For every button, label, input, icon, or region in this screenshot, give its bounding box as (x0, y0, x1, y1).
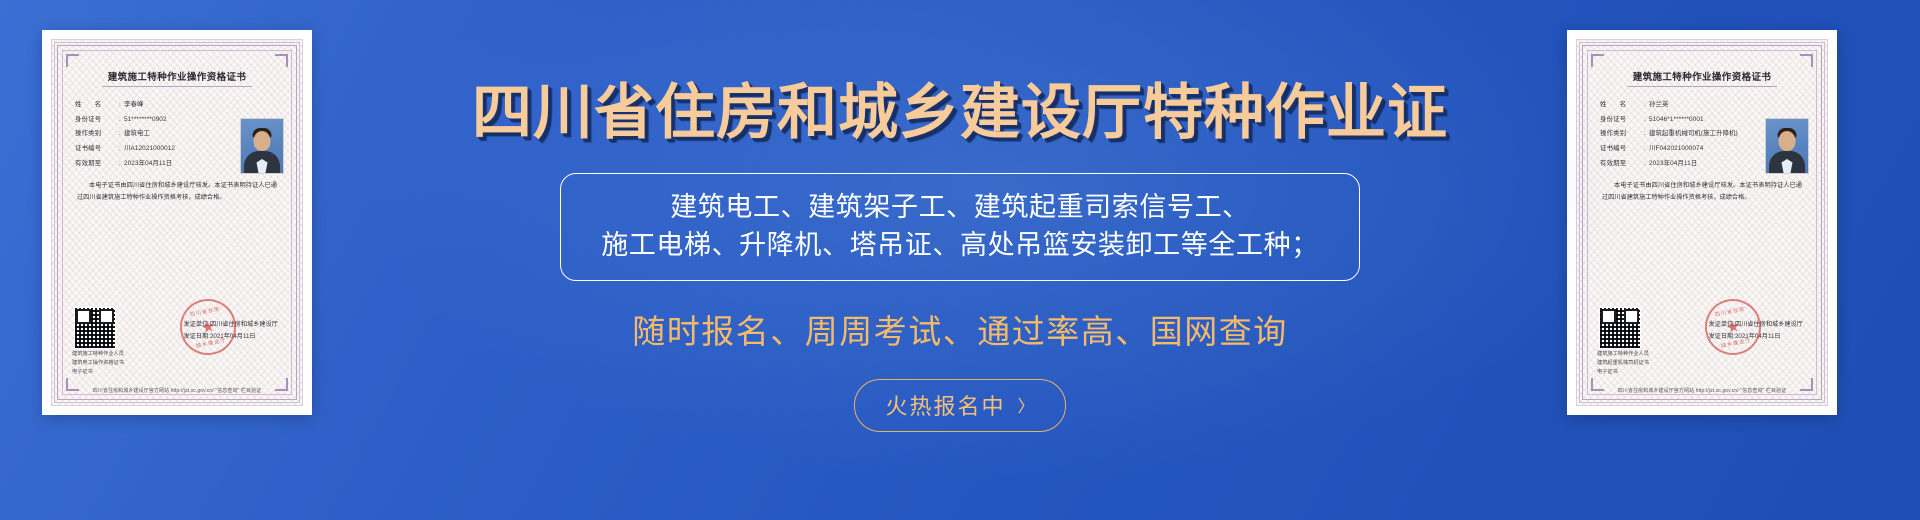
certificate-field: 有效期至 : 2023年04月11日 (1600, 160, 1760, 169)
chevron-right-icon: 〉 (1018, 392, 1035, 417)
field-label: 身份证号 (75, 116, 119, 125)
certificate-body-paragraph: 本电子证书由四川省住房和城乡建设厅核发。本证书表明持证人已通过四川省建筑施工特种… (1602, 180, 1802, 204)
seal-top-text: 四川省住房 (189, 305, 221, 318)
title-underline (102, 86, 252, 87)
legend-line: 建筑起重机械司机证书 (1597, 359, 1649, 368)
field-label: 身份证号 (1600, 116, 1644, 125)
qr-code-icon (74, 307, 116, 349)
field-label: 证书编号 (75, 145, 119, 154)
certificate-inner-right: 建筑施工特种作业操作资格证书 姓 名 : 孙兰英 身份证号 : 51046*1*… (1576, 39, 1828, 406)
field-value: 建筑电工 (124, 130, 150, 139)
field-value: 川F042021000074 (1649, 145, 1703, 154)
field-value: 2023年04月11日 (1649, 160, 1697, 169)
promo-banner: 建筑施工特种作业操作资格证书 姓 名 : 李春峰 身份证号 : 51******… (0, 0, 1920, 520)
trades-line: 建筑电工、建筑架子工、建筑起重司索信号工、 (601, 188, 1319, 226)
benefits-line: 随时报名、周周考试、通过率高、国网查询 (632, 305, 1288, 353)
legend-line: 建筑施工特种作业人员 (72, 350, 124, 359)
corner-ornament-icon (1591, 54, 1604, 67)
certificate-field: 证书编号 : 川A12021000012 (75, 145, 235, 154)
certificate-field: 身份证号 : 51046*1******0001 (1600, 116, 1760, 125)
corner-ornament-icon (1800, 54, 1813, 67)
legend-line: 建筑电工操作资格证书 (72, 359, 124, 368)
certificate-field-list: 姓 名 : 李春峰 身份证号 : 51********0902 操作类别 : 建… (75, 101, 235, 168)
legend-line: 电子证书 (72, 368, 124, 377)
field-value: 2023年04月11日 (124, 160, 172, 169)
photo-head-shape (254, 131, 271, 151)
official-seal-icon: 四川省住房 城乡建设厅 (1700, 294, 1766, 360)
qr-code-icon (1599, 307, 1641, 349)
field-value: 孙兰英 (1649, 101, 1668, 110)
field-label: 有效期至 (75, 160, 119, 169)
certificate-field: 证书编号 : 川F042021000074 (1600, 145, 1760, 154)
certificate-photo (240, 118, 284, 174)
seal-bottom-text: 城乡建设厅 (195, 337, 227, 350)
certificate-legend: 建筑施工特种作业人员 建筑起重机械司机证书 电子证书 (1597, 350, 1649, 377)
certificate-card-right: 建筑施工特种作业操作资格证书 姓 名 : 孙兰英 身份证号 : 51046*1*… (1567, 30, 1837, 415)
certificate-card-left: 建筑施工特种作业操作资格证书 姓 名 : 李春峰 身份证号 : 51******… (42, 30, 312, 415)
legend-line: 建筑施工特种作业人员 (1597, 350, 1649, 359)
certificate-field: 操作类别 : 建筑电工 (75, 130, 235, 139)
certificate-inner-left: 建筑施工特种作业操作资格证书 姓 名 : 李春峰 身份证号 : 51******… (51, 39, 303, 406)
title-underline (1627, 86, 1777, 87)
certificate-field-list: 姓 名 : 孙兰英 身份证号 : 51046*1******0001 操作类别 … (1600, 101, 1760, 168)
official-seal-icon: 四川省住房 城乡建设厅 (175, 294, 241, 360)
certificate-footer-note: 四川省住房和城乡建设厅官方网站 http://jzt.sc.gov.cn/ "信… (1577, 387, 1827, 394)
field-label: 有效期至 (1600, 160, 1644, 169)
signup-cta-button[interactable]: 火热报名中 〉 (854, 379, 1065, 432)
certificate-footer-note: 四川省住房和城乡建设厅官方网站 http://jzt.sc.gov.cn/ "信… (52, 387, 302, 394)
certificate-body-text: 本电子证书由四川省住房和城乡建设厅核发。本证书表明持证人已通过四川省建筑施工特种… (1602, 180, 1802, 204)
field-label: 操作类别 (75, 130, 119, 139)
certificate-field: 姓 名 : 孙兰英 (1600, 101, 1760, 110)
certificate-photo (1765, 118, 1809, 174)
seal-bottom-text: 城乡建设厅 (1720, 337, 1752, 350)
certificate-body-text: 本电子证书由四川省住房和城乡建设厅核发。本证书表明持证人已通过四川省建筑施工特种… (77, 180, 277, 204)
certificate-field: 身份证号 : 51********0902 (75, 116, 235, 125)
certificate-title: 建筑施工特种作业操作资格证书 (61, 69, 293, 83)
seal-top-text: 四川省住房 (1714, 305, 1746, 318)
certificate-legend: 建筑施工特种作业人员 建筑电工操作资格证书 电子证书 (72, 350, 124, 377)
trades-list-box: 建筑电工、建筑架子工、建筑起重司索信号工、 施工电梯、升降机、塔吊证、高处吊篮安… (560, 173, 1360, 281)
certificate-field: 有效期至 : 2023年04月11日 (75, 160, 235, 169)
certificate-field: 操作类别 : 建筑起重机械司机(施工升降机) (1600, 130, 1760, 139)
photo-head-shape (1779, 131, 1796, 151)
page-title: 四川省住房和城乡建设厅特种作业证 (472, 64, 1448, 151)
field-value: 51********0902 (124, 116, 167, 125)
field-value: 李春峰 (124, 101, 143, 110)
field-value: 川A12021000012 (124, 145, 175, 154)
corner-ornament-icon (275, 54, 288, 67)
field-label: 操作类别 (1600, 130, 1644, 139)
cta-label: 火热报名中 (885, 389, 1005, 421)
trades-line: 施工电梯、升降机、塔吊证、高处吊篮安装卸工等全工种； (601, 226, 1319, 264)
corner-ornament-icon (66, 54, 79, 67)
legend-line: 电子证书 (1597, 368, 1649, 377)
certificate-title: 建筑施工特种作业操作资格证书 (1586, 69, 1818, 83)
field-value: 51046*1******0001 (1649, 116, 1704, 125)
field-label: 姓 名 (75, 101, 119, 110)
certificate-body-paragraph: 本电子证书由四川省住房和城乡建设厅核发。本证书表明持证人已通过四川省建筑施工特种… (77, 180, 277, 204)
field-label: 姓 名 (1600, 101, 1644, 110)
certificate-field: 姓 名 : 李春峰 (75, 101, 235, 110)
banner-content: 四川省住房和城乡建设厅特种作业证 建筑电工、建筑架子工、建筑起重司索信号工、 施… (360, 0, 1560, 520)
field-value: 建筑起重机械司机(施工升降机) (1649, 130, 1738, 139)
field-label: 证书编号 (1600, 145, 1644, 154)
